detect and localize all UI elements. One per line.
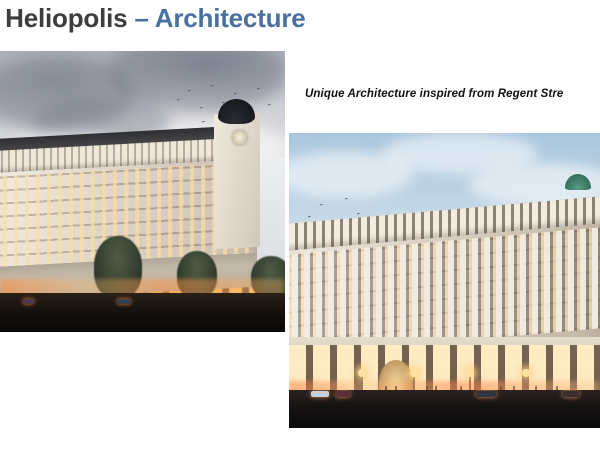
- architecture-render-left: [0, 51, 285, 332]
- car: [23, 299, 34, 304]
- page-title: to Heliopolis – Architecture: [0, 2, 600, 34]
- page-title-accent: – Architecture: [134, 3, 305, 33]
- left-render-canvas: [0, 51, 285, 332]
- architecture-render-right: [289, 133, 600, 428]
- image-caption: Unique Architecture inspired from Regent…: [305, 88, 600, 100]
- page-title-primary: to Heliopolis: [0, 3, 134, 33]
- clock-face: [232, 130, 247, 145]
- car: [476, 391, 496, 397]
- right-render-canvas: [289, 133, 600, 428]
- car: [563, 391, 579, 397]
- car: [311, 391, 329, 397]
- corner-dome: [565, 174, 591, 190]
- car: [117, 299, 131, 304]
- car: [336, 391, 350, 397]
- street-surface: [0, 293, 285, 332]
